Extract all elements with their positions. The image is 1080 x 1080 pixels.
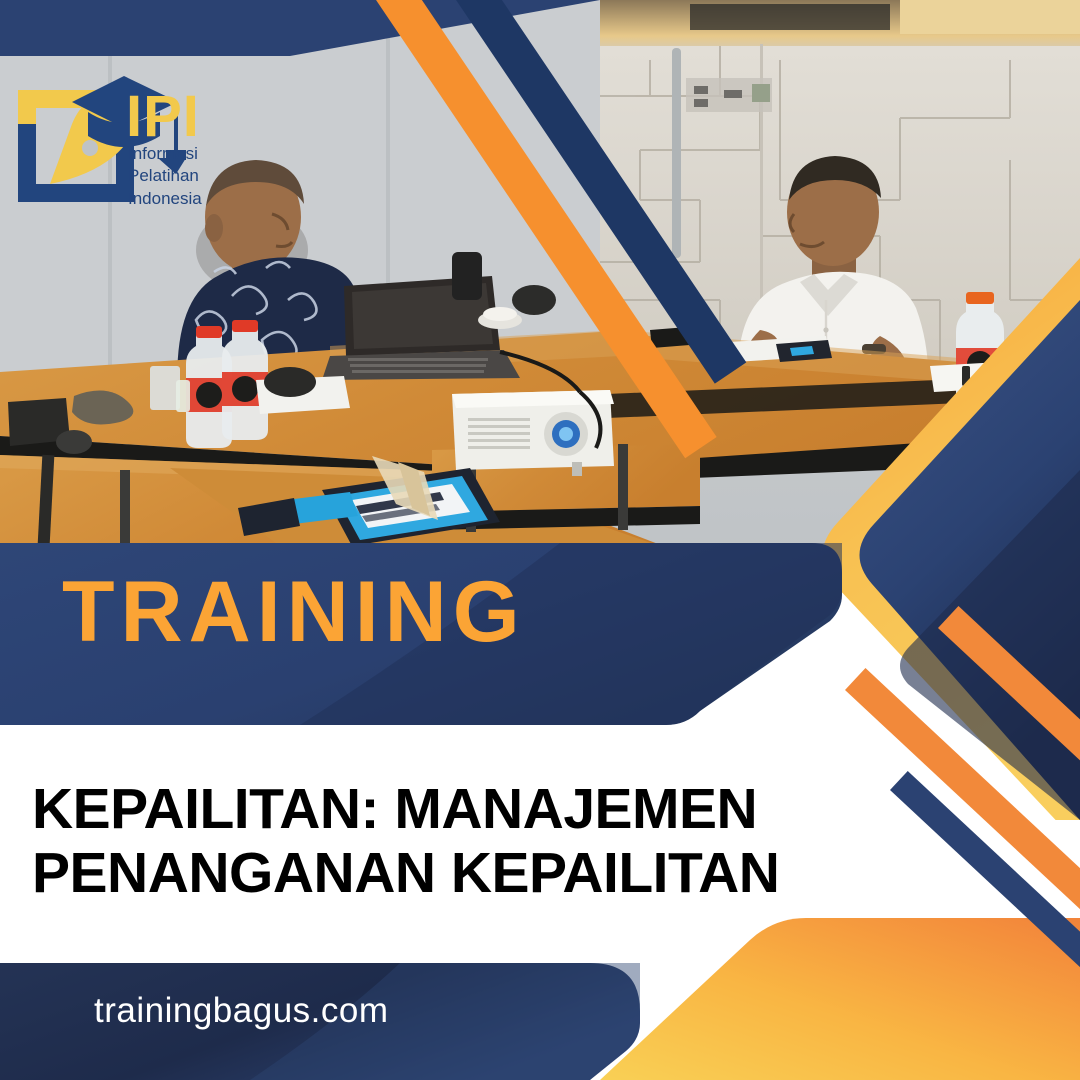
website-url[interactable]: trainingbagus.com [94, 991, 389, 1031]
logo-sub-line-1: Informasi [128, 143, 202, 165]
logo-sub-line-2: Pelatihan [128, 165, 202, 187]
logo-subtitle: Informasi Pelatihan Indonesia [128, 143, 202, 210]
logo-wordmark: IPI [126, 88, 200, 146]
logo-sub-line-3: Indonesia [128, 188, 202, 210]
poster-canvas: TRAINING KEPAILITAN: MANAJEMEN PENANGANA… [0, 0, 1080, 1080]
banner-title: TRAINING [62, 569, 526, 655]
title-line-1: KEPAILITAN: MANAJEMEN [32, 778, 862, 842]
